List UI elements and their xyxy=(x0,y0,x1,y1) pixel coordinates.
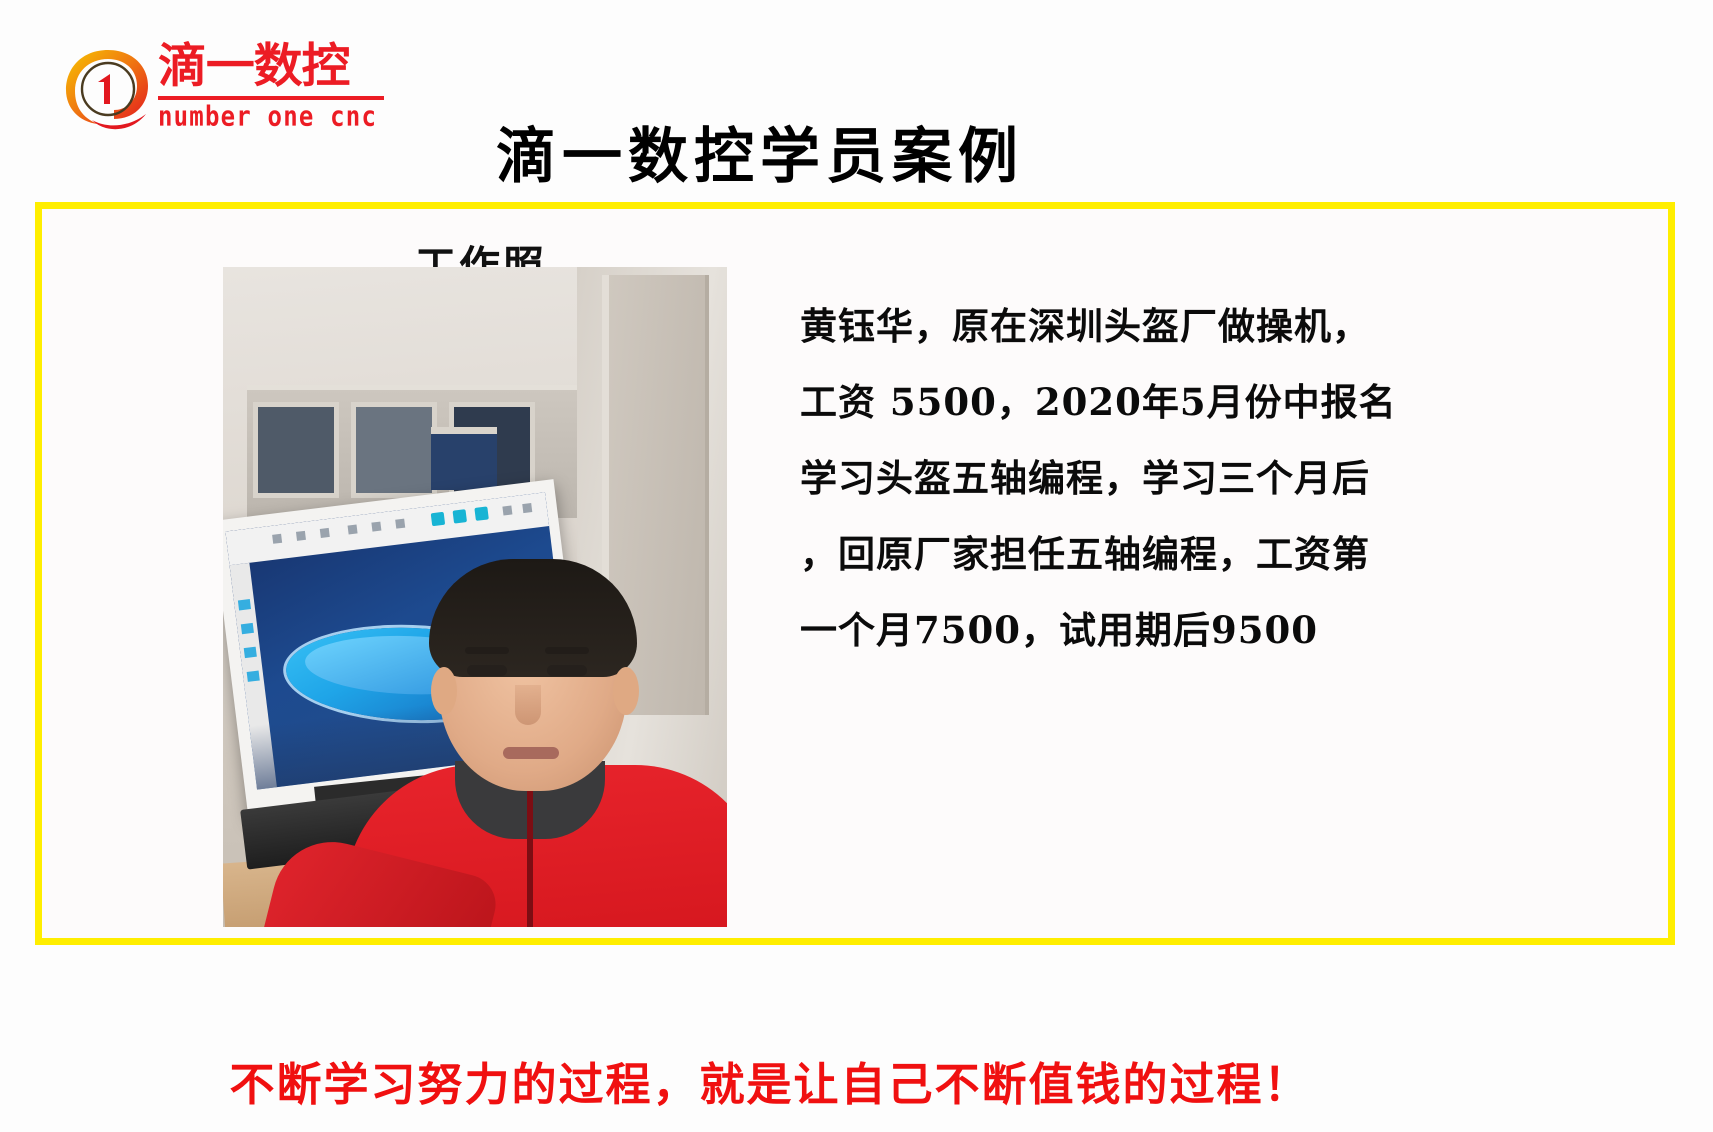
photo-person-eye xyxy=(547,665,587,676)
photo-person-mouth xyxy=(503,747,559,759)
case-description-line: 一个月7500，试用期后9500 xyxy=(800,592,1540,668)
page-title: 滴一数控学员案例 xyxy=(420,108,1100,195)
case-description: 黄钰华，原在深圳头盔厂做操机， 工资 5500，2020年5月份中报名 学习头盔… xyxy=(800,288,1540,668)
case-description-line: ，回原厂家担任五轴编程，工资第 xyxy=(800,516,1540,592)
photo-cabinet-pane xyxy=(253,402,339,498)
student-workplace-photo xyxy=(223,267,727,927)
case-description-line: 黄钰华，原在深圳头盔厂做操机， xyxy=(800,288,1540,364)
photo-person-eyebrow xyxy=(545,647,589,654)
brand-logo: 滴一数控 number one cnc xyxy=(62,38,382,138)
motivational-caption: 不断学习努力的过程，就是让自己不断值钱的过程！ xyxy=(0,1048,1540,1113)
case-description-line: 学习头盔五轴编程，学习三个月后 xyxy=(800,440,1540,516)
photo-person-hair xyxy=(429,559,637,677)
photo-person xyxy=(351,435,727,927)
number-one-swoosh-logo-icon xyxy=(62,46,152,132)
brand-name-cn: 滴一数控 xyxy=(158,40,393,94)
case-description-line: 工资 5500，2020年5月份中报名 xyxy=(800,364,1540,440)
photo-person-nose xyxy=(515,685,541,725)
photo-person-eye xyxy=(467,665,507,676)
photo-person-eyebrow xyxy=(465,647,509,654)
photo-person-zipper xyxy=(527,791,533,927)
photo-person-ear xyxy=(613,667,639,715)
photo-person-ear xyxy=(431,667,457,715)
brand-name-en: number one cnc xyxy=(158,100,384,132)
